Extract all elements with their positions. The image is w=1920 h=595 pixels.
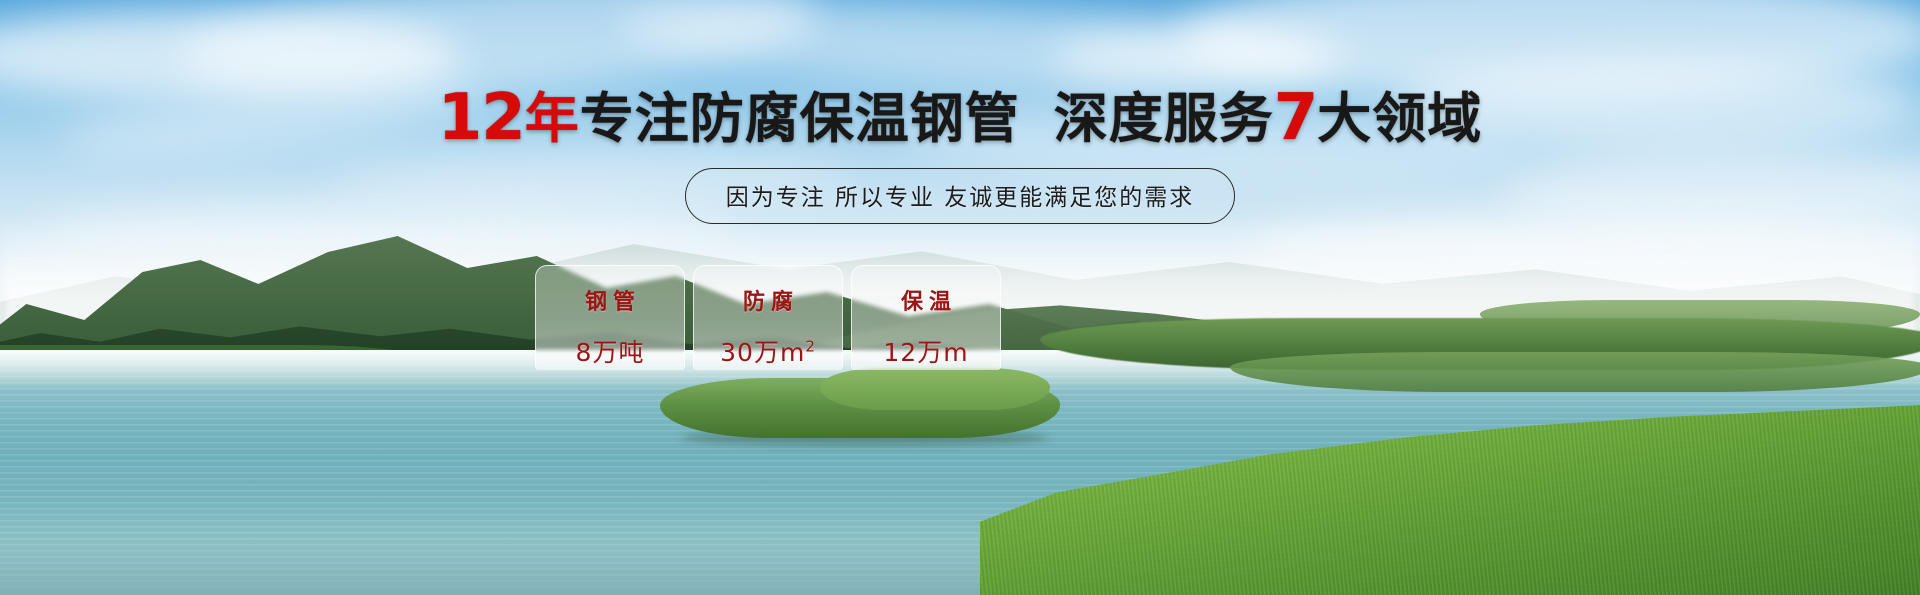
stat-card-value-text: 8万吨 — [576, 338, 645, 367]
headline: 12年专注防腐保温钢管深度服务7大领域 — [0, 86, 1920, 150]
subtitle-container: 因为专注 所以专业 友诚更能满足您的需求 — [0, 168, 1920, 224]
stat-card-label: 防腐 — [737, 284, 799, 316]
banner-content: 12年专注防腐保温钢管深度服务7大领域 因为专注 所以专业 友诚更能满足您的需求… — [0, 0, 1920, 595]
stat-card: 保温 12万m — [851, 265, 1001, 370]
stat-card: 防腐 30万m2 — [693, 265, 843, 370]
hero-banner: 12年专注防腐保温钢管深度服务7大领域 因为专注 所以专业 友诚更能满足您的需求… — [0, 0, 1920, 595]
headline-years-number: 12 — [438, 81, 525, 155]
headline-main-text: 专注防腐保温钢管 — [580, 87, 1020, 150]
stat-card: 钢管 8万吨 — [535, 265, 685, 370]
stat-card-label: 保温 — [895, 284, 957, 316]
headline-service-text: 深度服务 — [1054, 87, 1274, 150]
headline-fields-text: 大领域 — [1317, 87, 1482, 150]
stat-card-value: 30万m2 — [720, 333, 816, 369]
stat-card-label: 钢管 — [579, 284, 641, 316]
stat-card-value: 12万m — [883, 333, 968, 369]
stat-card-value: 8万吨 — [576, 333, 645, 369]
stat-card-value-sup: 2 — [805, 338, 816, 356]
headline-fields-number: 7 — [1274, 81, 1318, 155]
stat-cards: 钢管 8万吨 防腐 30万m2 保温 12万m — [535, 265, 1001, 370]
subtitle-pill: 因为专注 所以专业 友诚更能满足您的需求 — [685, 168, 1236, 224]
stat-card-value-text: 30万m — [720, 338, 805, 367]
headline-years-unit: 年 — [525, 87, 580, 150]
stat-card-value-text: 12万m — [883, 338, 968, 367]
